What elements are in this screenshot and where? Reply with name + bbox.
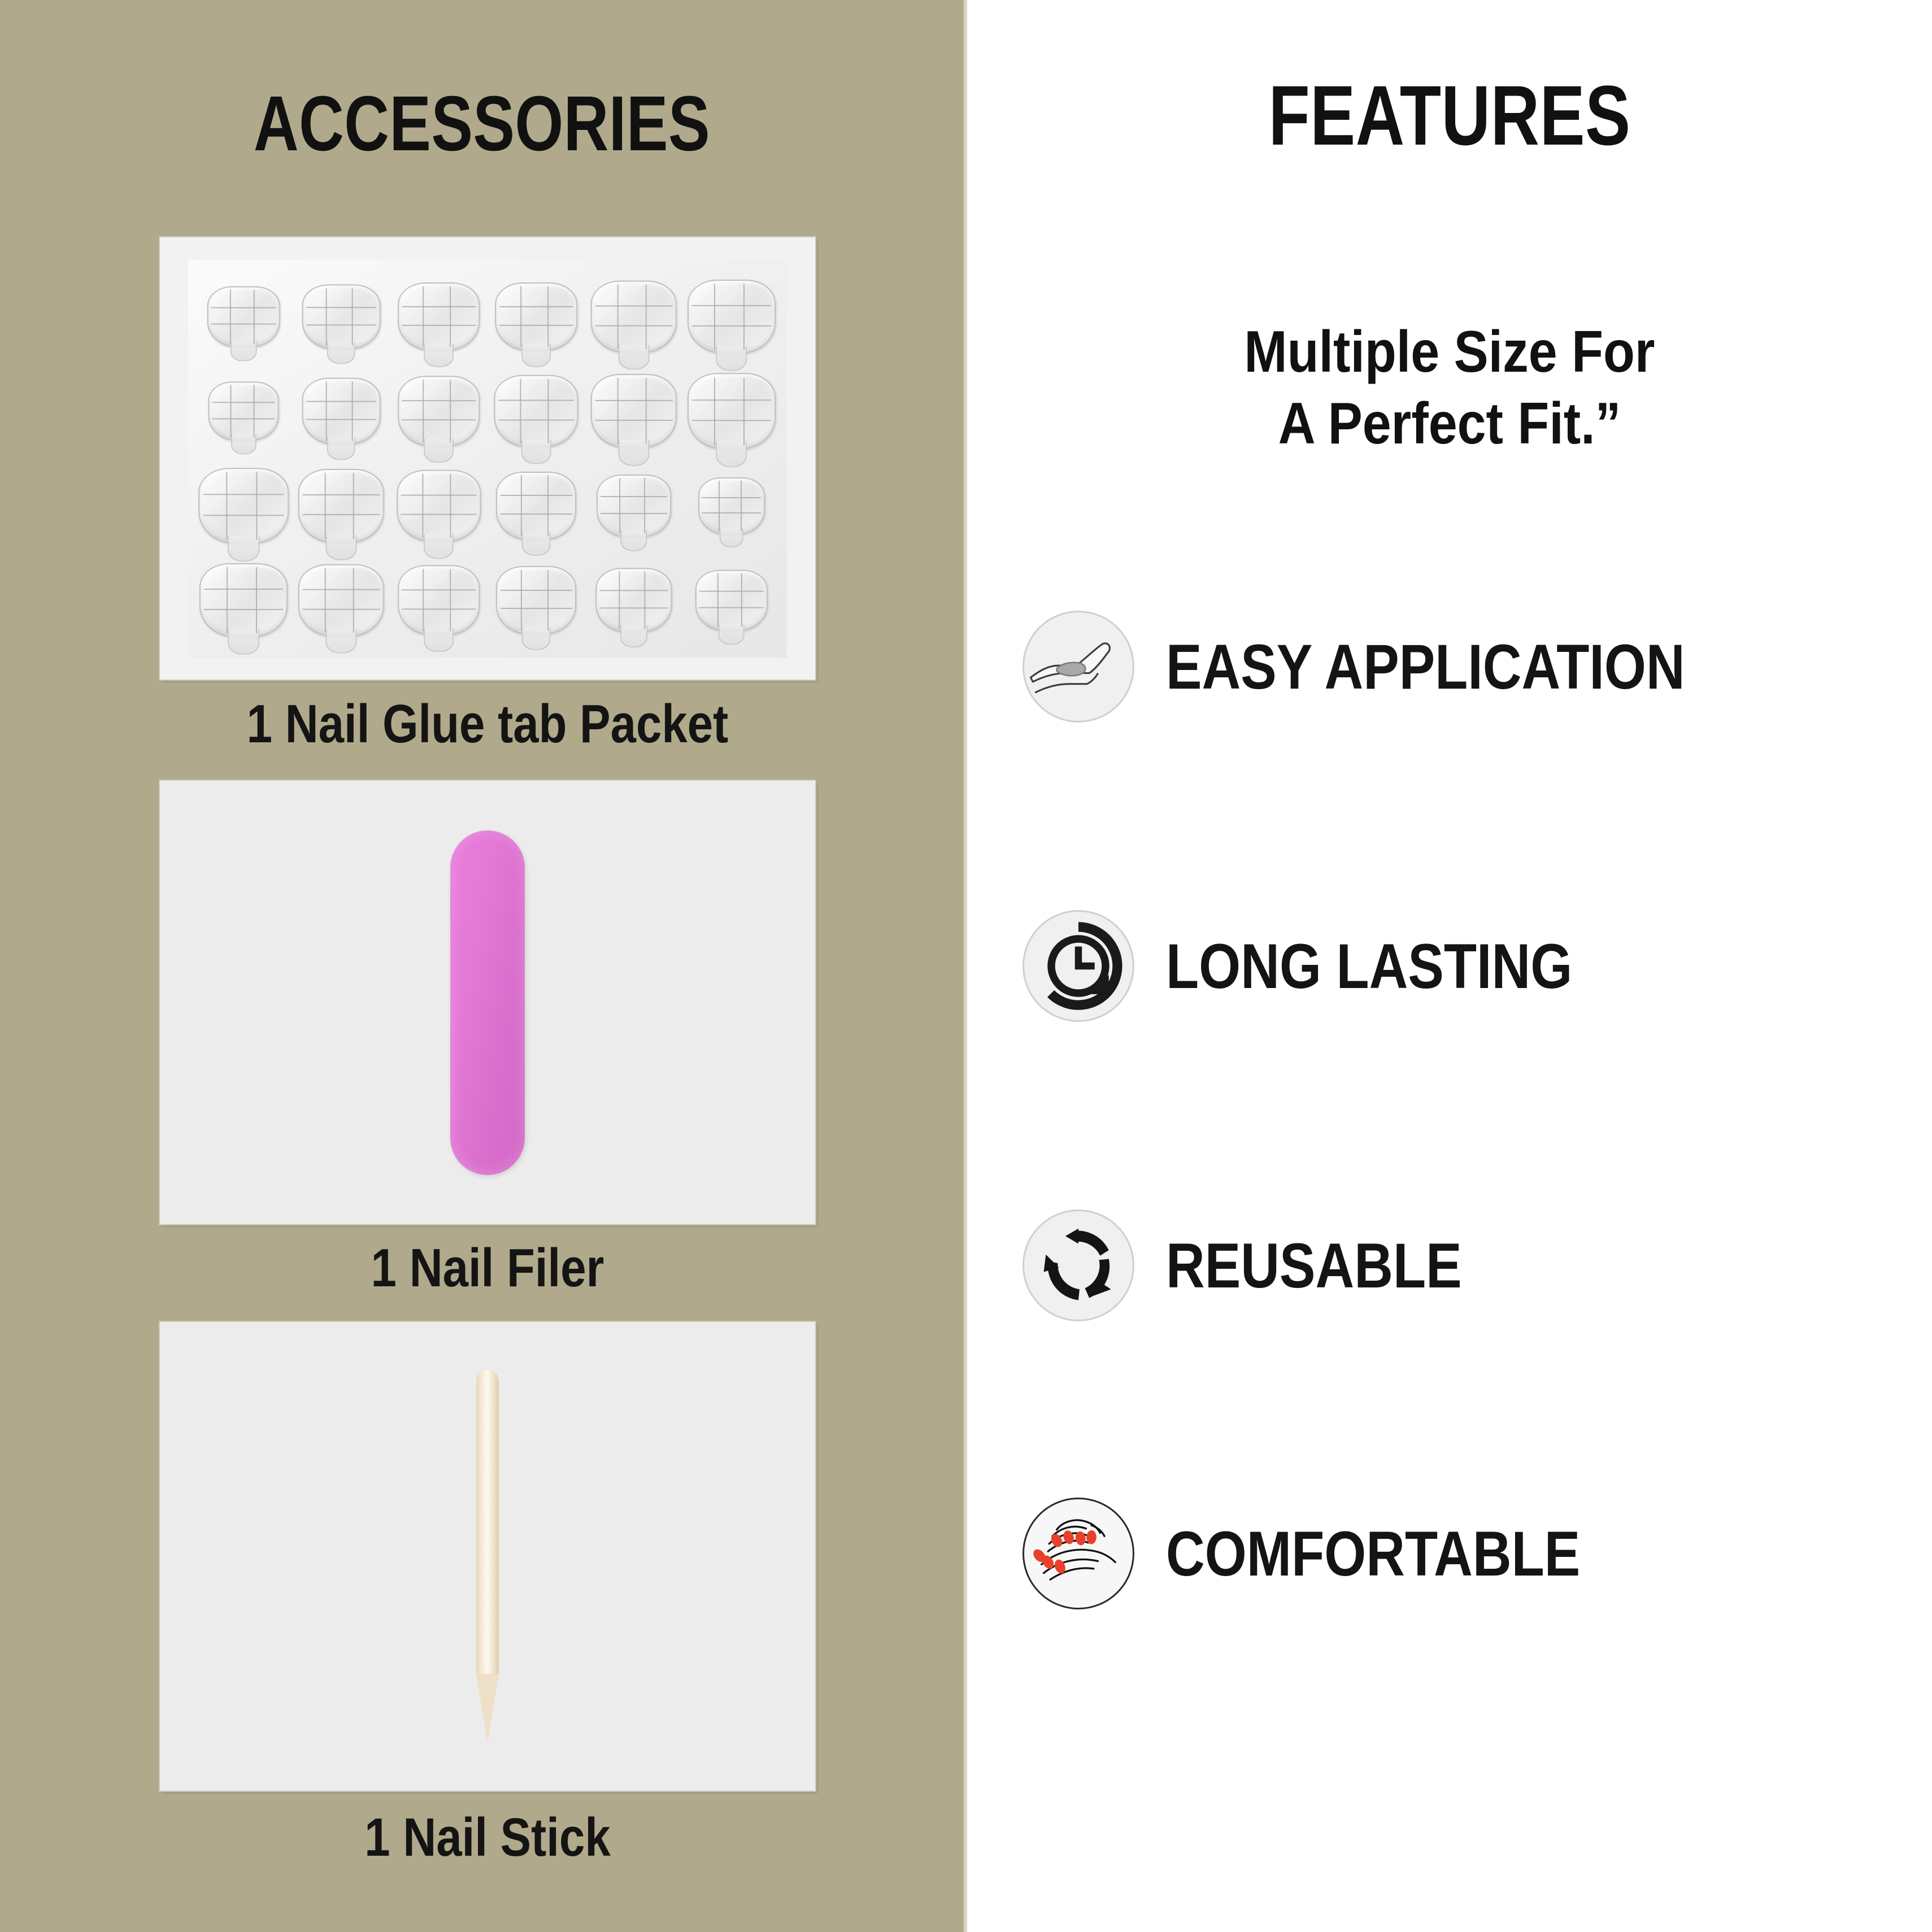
features-panel: FEATURES Multiple Size For A Perfect Fit… — [967, 0, 1932, 1932]
glue-tab — [293, 269, 390, 364]
accessory-caption: 1 Nail Glue tab Packet — [209, 693, 766, 755]
nail-stick-body — [476, 1370, 499, 1675]
glue-tab — [390, 459, 488, 553]
glue-tab — [682, 364, 780, 458]
feature-item-comfortable: COMFORTABLE — [1022, 1480, 1915, 1627]
glue-tab — [488, 269, 585, 364]
nail-glue-tab-sheet — [188, 259, 787, 658]
tagline-line-2: A Perfect Fit.” — [1025, 388, 1874, 460]
feature-item-long-lasting: LONG LASTING — [1022, 893, 1915, 1039]
tagline-line-1: Multiple Size For — [1025, 316, 1874, 388]
nail-stick — [476, 1370, 499, 1743]
features-tagline: Multiple Size For A Perfect Fit.” — [1025, 316, 1874, 460]
feature-label: EASY APPLICATION — [1166, 630, 1685, 703]
accessories-title: ACCESSORIES — [97, 79, 868, 169]
glue-tab — [195, 269, 293, 364]
glue-tab — [488, 459, 585, 553]
glue-tab — [195, 553, 293, 647]
glue-tab — [585, 553, 683, 647]
glue-tab — [488, 364, 585, 458]
clock-history-icon — [1022, 910, 1134, 1022]
feature-item-easy-application: EASY APPLICATION — [1022, 593, 1915, 740]
glue-tab — [293, 364, 390, 458]
accessory-image-nail-filer — [160, 781, 815, 1224]
accessories-panel: ACCESSORIES — [0, 0, 964, 1932]
glue-tab — [585, 364, 683, 458]
glue-tab — [195, 459, 293, 553]
nail-stick-tip — [476, 1674, 499, 1743]
accessory-image-nail-stick — [160, 1322, 815, 1791]
glue-tab — [585, 269, 683, 364]
features-title: FEATURES — [1064, 67, 1835, 164]
accessory-caption: 1 Nail Filer — [209, 1237, 766, 1299]
glue-tab — [682, 553, 780, 647]
product-infographic: ACCESSORIES — [0, 0, 1932, 1932]
feature-label: COMFORTABLE — [1166, 1517, 1580, 1590]
feature-label: REUSABLE — [1166, 1229, 1462, 1302]
feature-item-reusable: REUSABLE — [1022, 1192, 1915, 1339]
glue-tab — [293, 553, 390, 647]
glue-tab — [195, 364, 293, 458]
glue-tab — [682, 269, 780, 364]
accessory-caption: 1 Nail Stick — [209, 1807, 766, 1869]
recycle-arrows-icon — [1022, 1209, 1134, 1321]
glue-tab — [488, 553, 585, 647]
glue-tab — [390, 269, 488, 364]
glue-tab — [682, 459, 780, 553]
glue-tab — [390, 553, 488, 647]
glue-tab — [390, 364, 488, 458]
finger-pressing-nail-icon — [1022, 611, 1134, 723]
glue-tab — [293, 459, 390, 553]
glue-tab — [585, 459, 683, 553]
nail-filer — [450, 830, 525, 1175]
accessory-image-nail-glue-tab-packet — [160, 237, 815, 680]
feature-label: LONG LASTING — [1166, 930, 1572, 1003]
manicured-hands-icon — [1022, 1498, 1134, 1609]
